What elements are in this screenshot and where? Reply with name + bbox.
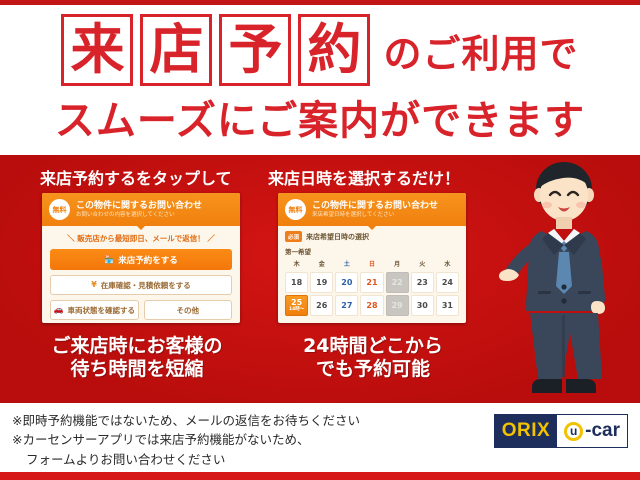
inquiry-header-subtitle: お問い合わせの内容を選択してください — [76, 212, 202, 218]
calendar-day-number: 18 — [291, 279, 302, 287]
calendar-weekday: 金 — [310, 259, 333, 270]
inquiry-form-mock: 無料 この物件に関するお問い合わせ お問い合わせの内容を選択してください ＼ 販… — [42, 193, 240, 323]
kanji-box-2: 店 — [140, 14, 212, 86]
kanji-box-3: 予 — [219, 14, 291, 86]
calendar-day-selected[interactable]: 2514時～ — [285, 295, 308, 316]
stock-quote-button[interactable]: ¥ 在庫確認・見積依頼をする — [50, 275, 232, 295]
calendar-day[interactable]: 26 — [310, 295, 333, 316]
kanji-box-4: 約 — [298, 14, 370, 86]
calendar-field-label-row: 必須 来店希望日時の選択 — [285, 231, 459, 242]
footer-notes: ※即時予約機能ではないため、メールの返信をお待ちください ※カーセンサーアプリで… — [12, 411, 360, 469]
calendar-day[interactable]: 30 — [411, 295, 434, 316]
calendar-day[interactable]: 28 — [360, 295, 383, 316]
calendar-header-text: この物件に関するお問い合わせ 来店希望日時を選択してください — [312, 201, 438, 218]
inquiry-header-title: この物件に関するお問い合わせ — [76, 201, 202, 211]
free-badge: 無料 — [285, 199, 306, 220]
calendar-grid[interactable]: 木金土日月火水181920212223242514時～262728293031 — [285, 259, 459, 316]
promo-banner: 来 店 予 約 のご利用で スムーズにご案内ができます 来店予約するをタップして… — [0, 0, 640, 480]
vehicle-condition-button[interactable]: 🚗 車両状態を確認する — [50, 300, 139, 320]
benefit-left-line-1: ご来店時にお客様の — [22, 335, 252, 358]
calendar-weekday: 水 — [436, 259, 459, 270]
inquiry-header-text: この物件に関するお問い合わせ お問い合わせの内容を選択してください — [76, 201, 202, 218]
calendar-field-label: 来店希望日時の選択 — [306, 232, 369, 242]
kanji-box-1: 来 — [61, 14, 133, 86]
bottom-rule — [0, 472, 640, 480]
calendar-day-number: 20 — [341, 279, 352, 287]
preference-label: 第一希望 — [285, 246, 459, 256]
store-icon: 🏪 — [104, 256, 114, 264]
calendar-day-number: 29 — [392, 302, 403, 310]
calendar-header-title: この物件に関するお問い合わせ — [312, 201, 438, 211]
headline-row-2: スムーズにご案内ができます — [55, 88, 585, 146]
ucar-car-text: -car — [585, 420, 620, 442]
calendar-day-number: 26 — [316, 302, 327, 310]
calendar-day[interactable]: 24 — [436, 272, 459, 293]
headline-section: 来 店 予 約 のご利用で スムーズにご案内ができます — [0, 5, 640, 155]
calendar-day[interactable]: 27 — [335, 295, 358, 316]
benefit-left: ご来店時にお客様の 待ち時間を短縮 — [22, 335, 252, 381]
footer-section: ※即時予約機能ではないため、メールの返信をお待ちください ※カーセンサーアプリで… — [0, 403, 640, 472]
ucar-u-icon: u — [564, 422, 583, 441]
left-panel-caption: 来店予約するをタップして — [40, 165, 232, 189]
calendar-body: 必須 来店希望日時の選択 第一希望 木金土日月火水181920212223242… — [278, 226, 466, 322]
calendar-day-number: 21 — [366, 279, 377, 287]
calendar-day-number: 24 — [442, 279, 453, 287]
calendar-day-number: 27 — [341, 302, 352, 310]
free-badge: 無料 — [49, 199, 70, 220]
headline-tail: のご利用で — [383, 23, 578, 78]
calendar-header-subtitle: 来店希望日時を選択してください — [312, 212, 438, 218]
calendar-day[interactable]: 18 — [285, 272, 308, 293]
orix-wordmark: ORIX — [495, 415, 557, 447]
calendar-day[interactable]: 23 — [411, 272, 434, 293]
inquiry-form-header: 無料 この物件に関するお問い合わせ お問い合わせの内容を選択してください — [42, 193, 240, 226]
calendar-day[interactable]: 31 — [436, 295, 459, 316]
calendar-weekday: 土 — [335, 259, 358, 270]
calendar-day-number: 28 — [366, 302, 377, 310]
footer-note-1: ※即時予約機能ではないため、メールの返信をお待ちください — [12, 411, 360, 430]
calendar-day-number: 22 — [392, 279, 403, 287]
calendar-day-slot: 14時～ — [289, 308, 304, 313]
benefit-right: 24時間どこから でも予約可能 — [258, 335, 488, 381]
reserve-visit-button[interactable]: 🏪 来店予約をする — [50, 249, 232, 270]
car-icon: 🚗 — [54, 306, 64, 314]
salesman-illustration — [498, 155, 630, 403]
inquiry-button-list: 🏪 来店予約をする ¥ 在庫確認・見積依頼をする 🚗 車両状態を確認する その他 — [42, 249, 240, 323]
benefit-right-line-1: 24時間どこから — [258, 335, 488, 358]
reserve-visit-label: 来店予約をする — [118, 254, 178, 266]
calendar-day-number: 19 — [316, 279, 327, 287]
calendar-day-number: 25 — [291, 299, 302, 307]
footer-note-3: フォームよりお問い合わせください — [12, 450, 360, 469]
calendar-mock: 無料 この物件に関するお問い合わせ 来店希望日時を選択してください 必須 来店希… — [278, 193, 466, 323]
footer-note-2: ※カーセンサーアプリでは来店予約機能がないため、 — [12, 430, 360, 449]
calendar-weekday: 日 — [360, 259, 383, 270]
red-body-section: 来店予約するをタップして 来店日時を選択するだけ！ 無料 この物件に関するお問い… — [0, 155, 640, 403]
right-panel-caption: 来店日時を選択するだけ！ — [268, 165, 460, 189]
calendar-weekday: 火 — [411, 259, 434, 270]
required-badge: 必須 — [285, 231, 302, 242]
stock-quote-label: 在庫確認・見積依頼をする — [101, 280, 191, 291]
vehicle-condition-label: 車両状態を確認する — [67, 305, 135, 316]
calendar-day-number: 31 — [442, 302, 453, 310]
benefit-right-line-2: でも予約可能 — [258, 358, 488, 381]
other-label: その他 — [177, 305, 200, 316]
yen-icon: ¥ — [91, 281, 97, 289]
calendar-day-number: 23 — [417, 279, 428, 287]
header-notch — [368, 226, 376, 230]
calendar-day[interactable]: 20 — [335, 272, 358, 293]
calendar-weekday: 月 — [386, 259, 409, 270]
headline-row-1: 来 店 予 約 のご利用で — [61, 14, 578, 86]
other-button[interactable]: その他 — [144, 300, 233, 320]
benefit-left-line-2: 待ち時間を短縮 — [22, 358, 252, 381]
calendar-day: 22 — [386, 272, 409, 293]
ucar-wordmark: u -car — [557, 415, 627, 447]
header-notch — [137, 226, 145, 230]
calendar-day[interactable]: 19 — [310, 272, 333, 293]
inquiry-button-row: 🚗 車両状態を確認する その他 — [50, 300, 232, 320]
calendar-day-number: 30 — [417, 302, 428, 310]
calendar-day: 29 — [386, 295, 409, 316]
orix-ucar-logo: ORIX u -car — [494, 414, 628, 448]
calendar-header: 無料 この物件に関するお問い合わせ 来店希望日時を選択してください — [278, 193, 466, 226]
calendar-day[interactable]: 21 — [360, 272, 383, 293]
calendar-weekday: 木 — [285, 259, 308, 270]
